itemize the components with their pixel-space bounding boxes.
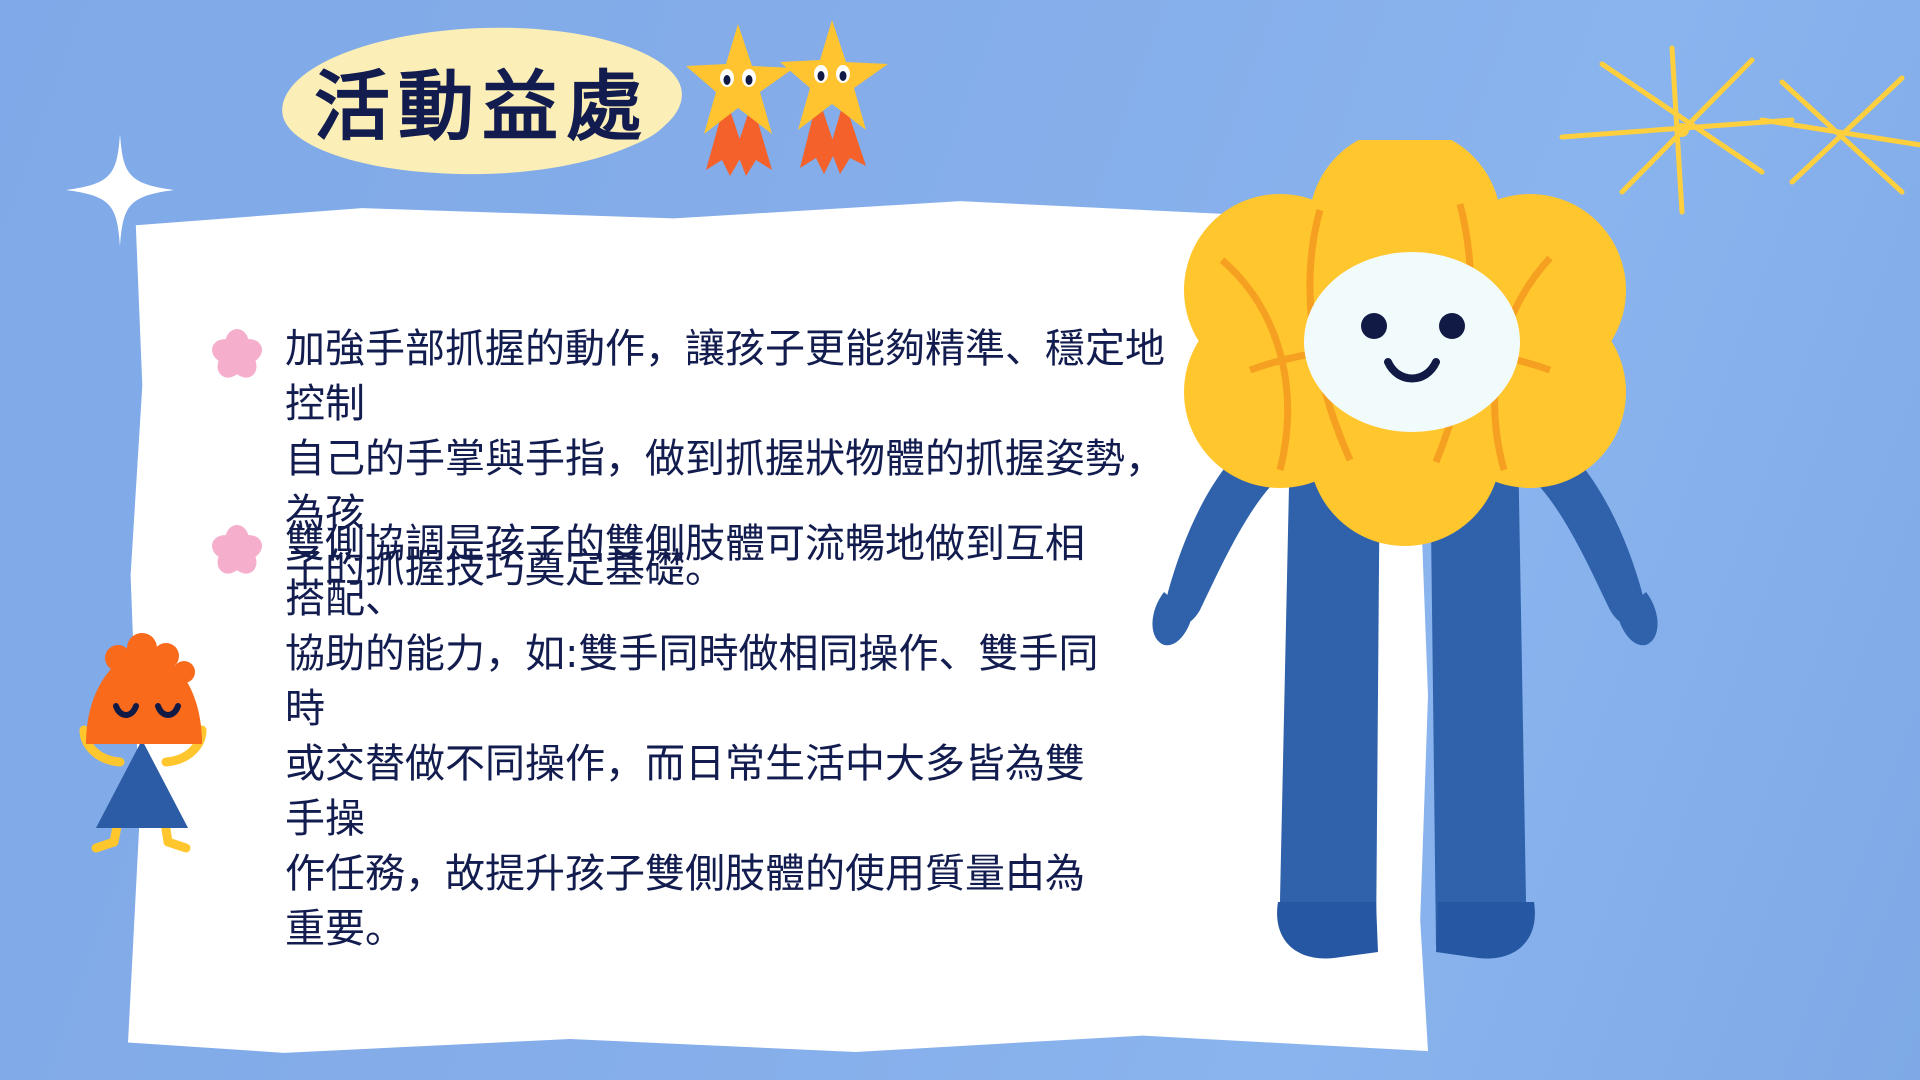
flower-bullet-icon [208,326,266,384]
flower-bullet-icon [208,522,266,580]
star-with-ribbon-icon [778,18,888,178]
yellow-flower-head-character [1130,140,1690,1020]
orange-blob-character [62,590,242,860]
benefit-paragraph-2: 雙側協調是孩子的雙側肢體可流暢地做到互相搭配、 協助的能力，如:雙手同時做相同操… [285,517,1115,957]
slide-stage: 活動益處 加強手部抓握的動作，讓孩子更能夠精準、穩定地控制 自己的 [0,0,1920,1080]
page-title: 活動益處 [296,52,668,148]
